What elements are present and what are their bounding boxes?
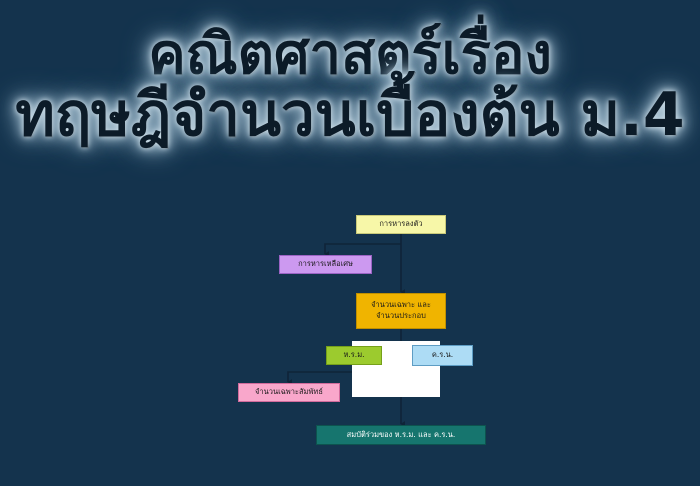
node-common-properties-gcd-lcm[interactable]: สมบัติร่วมของ ห.ร.ม. และ ค.ร.น. bbox=[316, 425, 486, 445]
slide-canvas: คณิตศาสตร์เรื่อง ทฤษฎีจำนวนเบื้องต้น ม.4 bbox=[0, 0, 700, 486]
node-division-with-remainder[interactable]: การหารเหลือเศษ bbox=[279, 255, 372, 274]
node-divisibility[interactable]: การหารลงตัว bbox=[356, 215, 446, 234]
node-lcm[interactable]: ค.ร.น. bbox=[412, 345, 473, 366]
node-prime-and-composite-numbers[interactable]: จำนวนเฉพาะ และ จำนวนประกอบ bbox=[356, 293, 446, 329]
node-gcd[interactable]: ห.ร.ม. bbox=[326, 346, 382, 365]
node-relatively-prime-numbers[interactable]: จำนวนเฉพาะสัมพัทธ์ bbox=[238, 383, 340, 402]
flowchart-connectors bbox=[0, 0, 700, 486]
flowchart-diagram: การหารลงตัว การหารเหลือเศษ จำนวนเฉพาะ แล… bbox=[0, 0, 700, 486]
